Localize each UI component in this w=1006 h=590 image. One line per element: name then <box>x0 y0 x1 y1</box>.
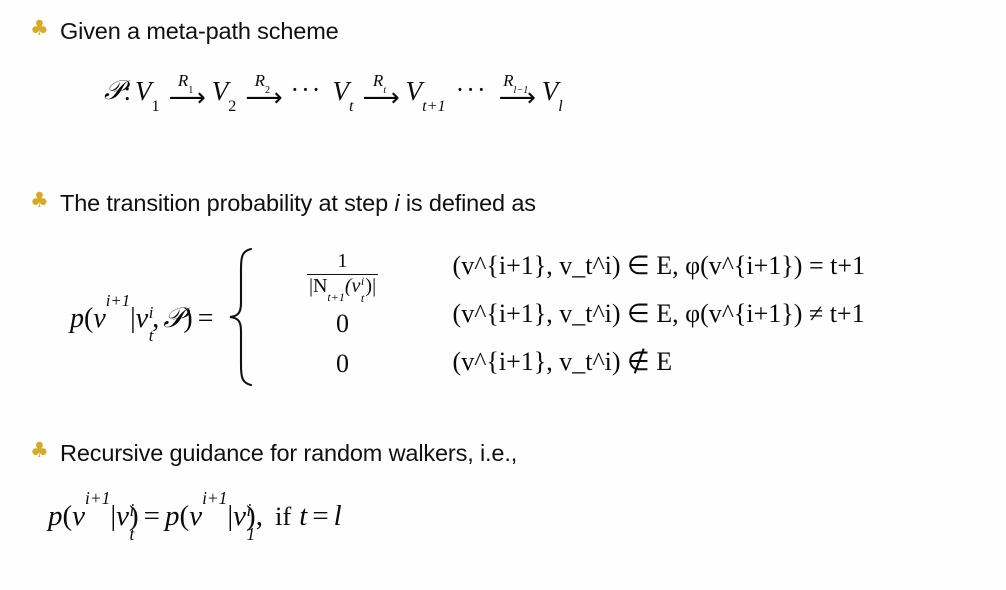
rec-p-right: p <box>165 500 180 532</box>
cases-brace <box>225 247 255 387</box>
bullet-text-meta-path-scheme: Given a meta-path scheme <box>60 18 339 44</box>
bullet-text-transition-probability: The transition probability at step i is … <box>60 190 536 216</box>
meta-path-formula: 𝒫: V1 R1 ⟶ V2 R2 ⟶ ··· Vt Rt ⟶ Vt+1 ··· … <box>104 73 567 107</box>
case-value-zero-2: 0 <box>336 351 349 377</box>
arrow-rl1: Rl−1 ⟶ <box>494 72 538 106</box>
fraction-denominator: |Nt+1(vit)| <box>306 275 379 298</box>
arrow-shaft-icon: ⟶ <box>362 90 396 106</box>
bullet-text-segment: Recursive guidance for random walkers, i… <box>60 440 517 466</box>
colon-symbol: : <box>123 76 131 107</box>
recursive-guidance-formula: p(vi+1|vit)=p(vi+1|vi1),ift=l <box>48 500 342 533</box>
case-value-zero-1: 0 <box>336 311 349 337</box>
bullet-text-segment-tail: is defined as <box>399 190 535 216</box>
rec-if-word: if <box>263 501 291 531</box>
arrow-r2: R2 ⟶ <box>240 72 284 106</box>
fraction-numerator: 1 <box>306 251 379 274</box>
node-vt: Vt <box>328 76 357 107</box>
arrow-rt: Rt ⟶ <box>357 72 401 106</box>
arrow-shaft-icon: ⟶ <box>245 90 279 106</box>
arrow-shaft-icon: ⟶ <box>169 90 203 106</box>
bullet-text-segment: Given a meta-path scheme <box>60 18 339 44</box>
arrow-r1: R1 ⟶ <box>164 72 208 106</box>
ellipsis-2: ··· <box>450 77 494 103</box>
case-condition-3: (v^{i+1}, v_t^i) ∉ E <box>453 349 865 375</box>
case-condition-1: (v^{i+1}, v_t^i) ∈ E, φ(v^{i+1}) = t+1 <box>453 253 865 279</box>
cases-block: 1 |Nt+1(vit)| 0 0 (v^{i+1}, v_t^i) ∈ E, … <box>259 247 865 387</box>
bullet-text-segment: The transition probability at step <box>60 190 394 216</box>
bullet-text-recursive-guidance: Recursive guidance for random walkers, i… <box>60 440 517 466</box>
club-bullet-icon: ♣ <box>30 18 60 39</box>
case-condition-2: (v^{i+1}, v_t^i) ∈ E, φ(v^{i+1}) ≠ t+1 <box>453 301 865 327</box>
rec-p-left: p <box>48 500 63 532</box>
slide-canvas: ♣ Given a meta-path scheme 𝒫: V1 R1 ⟶ V2… <box>0 0 1006 590</box>
cases-conditions-column: (v^{i+1}, v_t^i) ∈ E, φ(v^{i+1}) = t+1 (… <box>453 247 865 387</box>
club-bullet-icon: ♣ <box>30 440 60 461</box>
node-vl: Vl <box>538 76 567 107</box>
node-v1: V1 <box>131 76 164 107</box>
bullet-item-recursive-guidance: ♣ Recursive guidance for random walkers,… <box>30 440 517 466</box>
case-value-fraction: 1 |Nt+1(vit)| <box>306 251 379 298</box>
rec-equals: = <box>139 500 165 532</box>
bullet-item-transition-probability: ♣ The transition probability at step i i… <box>30 190 536 216</box>
cases-values-column: 1 |Nt+1(vit)| 0 0 <box>259 247 427 387</box>
ellipsis-1: ··· <box>284 77 328 103</box>
script-p-symbol: 𝒫 <box>104 75 123 107</box>
bullet-item-meta-path-scheme: ♣ Given a meta-path scheme <box>30 18 339 44</box>
node-v2: V2 <box>208 76 241 107</box>
transition-probability-formula: p(vi+1|vit,𝒫)= 1 |Nt+1(vit)| 0 0 (v^{i+1… <box>70 247 865 387</box>
piecewise-left-hand-side: p(vi+1|vit,𝒫)= <box>70 301 225 335</box>
club-bullet-icon: ♣ <box>30 190 60 211</box>
node-vt1: Vt+1 <box>402 76 450 107</box>
